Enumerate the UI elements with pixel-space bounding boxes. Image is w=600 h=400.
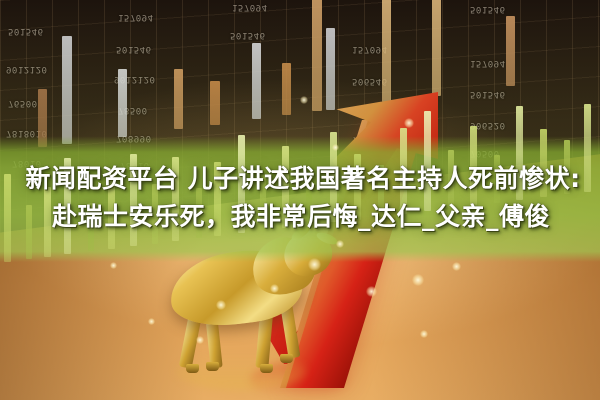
headline-line-1: 新闻配资平台 儿子讲述我国著名主持人死前惨状: — [0, 160, 600, 198]
headline-line-2: 赴瑞士安乐死，我非常后悔_达仁_父亲_傅俊 — [0, 198, 600, 236]
bull-hoof-4 — [280, 354, 293, 363]
bull-hoof-1 — [186, 364, 199, 373]
news-banner-image: 5015469012120765007818010780101570945015… — [0, 0, 600, 400]
bull-hoof-2 — [206, 362, 219, 371]
bull-hoof-3 — [260, 364, 273, 373]
headline-text: 新闻配资平台 儿子讲述我国著名主持人死前惨状: 赴瑞士安乐死，我非常后悔_达仁_… — [0, 160, 600, 236]
